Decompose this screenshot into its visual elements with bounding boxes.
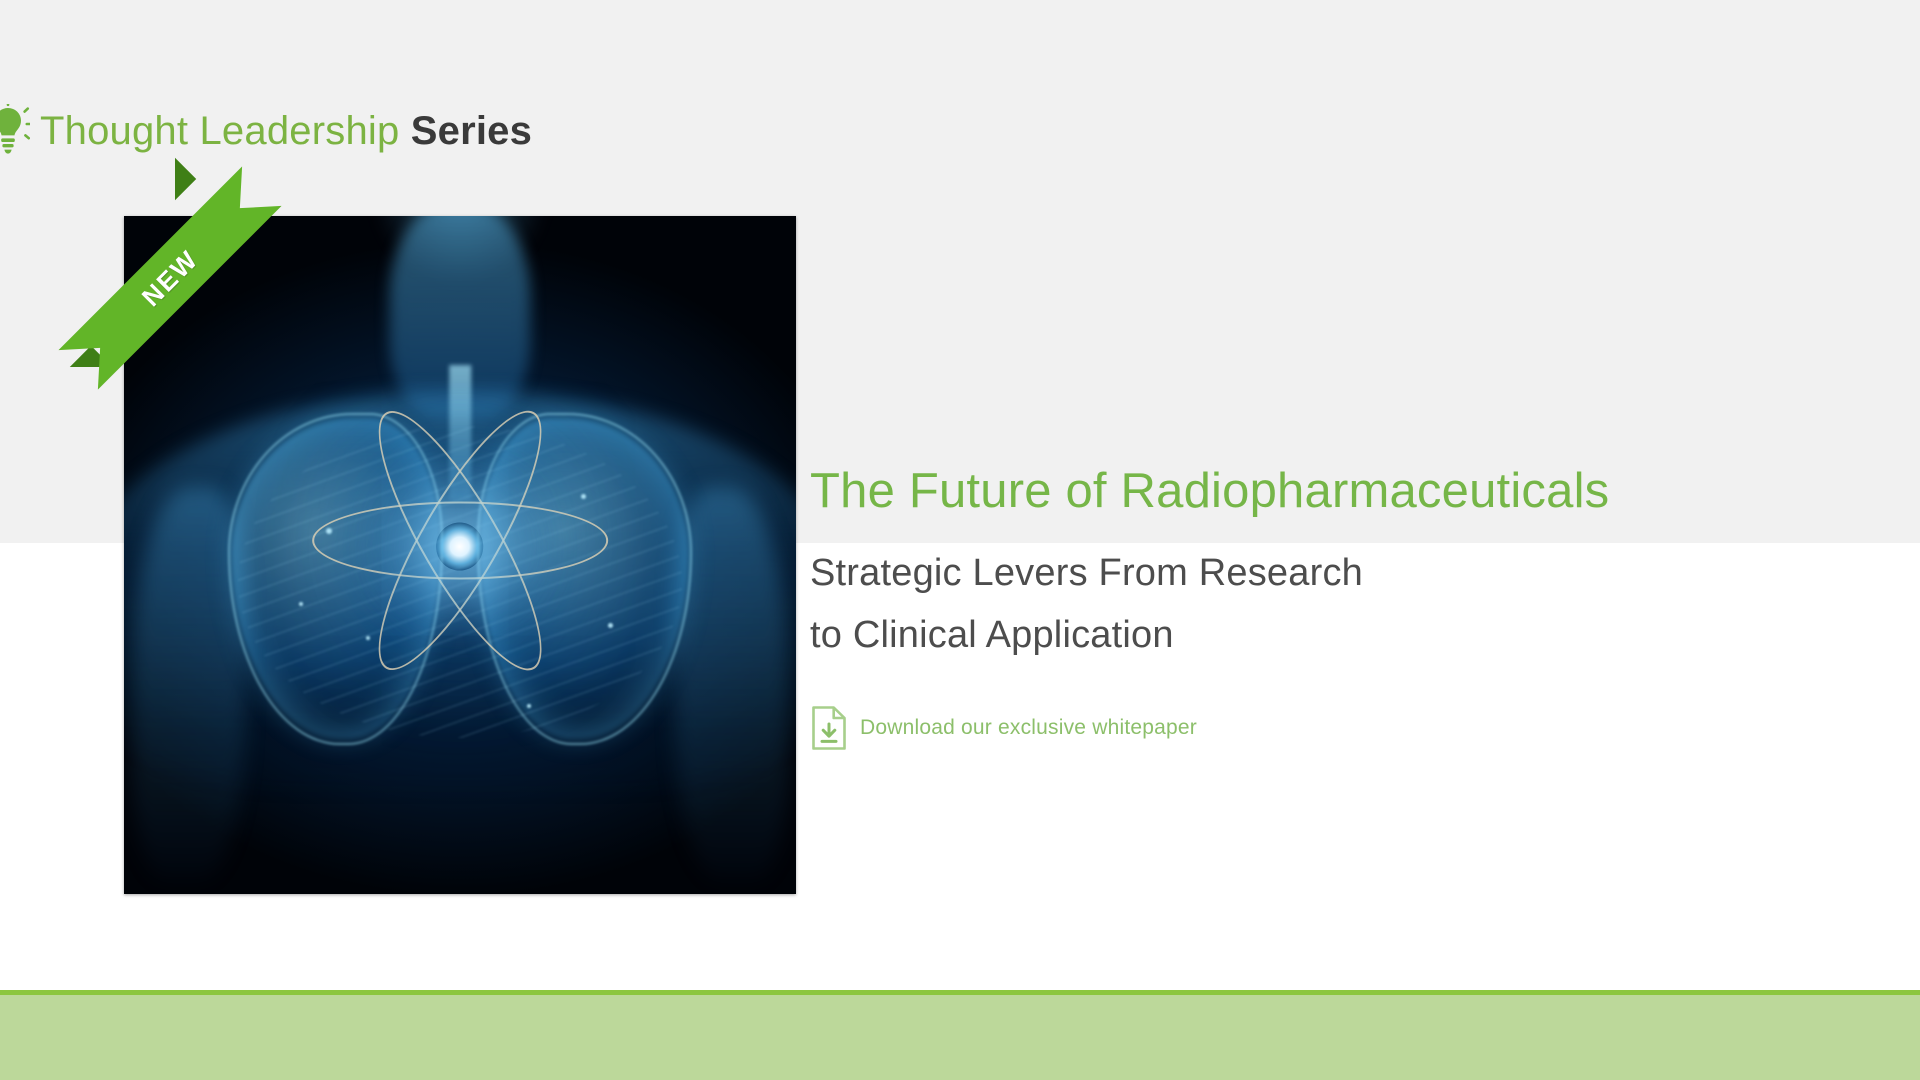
hero-image-card[interactable]: NEW	[124, 216, 796, 894]
slide-canvas: Thought Leadership Series	[0, 0, 1920, 1080]
xray-torso-illustration	[124, 216, 796, 894]
download-whitepaper-label: Download our exclusive whitepaper	[860, 716, 1197, 740]
atom-symbol-icon	[312, 447, 608, 664]
series-header-text: Thought Leadership Series	[40, 111, 532, 151]
footer-band	[0, 990, 1920, 1080]
download-whitepaper-link[interactable]: Download our exclusive whitepaper	[810, 705, 1197, 751]
content-copy-block: The Future of Radiopharmaceuticals Strat…	[810, 466, 1860, 751]
series-header: Thought Leadership Series	[0, 104, 532, 158]
page-subtitle: Strategic Levers From Research to Clinic…	[810, 543, 1860, 666]
page-subtitle-line-1: Strategic Levers From Research	[810, 543, 1860, 605]
hero-image[interactable]	[124, 216, 796, 894]
file-download-icon	[810, 705, 848, 751]
series-header-title-primary: Thought Leadership	[40, 109, 399, 153]
series-header-title-secondary: Series	[411, 109, 532, 153]
page-subtitle-line-2: to Clinical Application	[810, 605, 1860, 667]
lightbulb-idea-icon	[0, 104, 30, 158]
page-title: The Future of Radiopharmaceuticals	[810, 466, 1860, 517]
